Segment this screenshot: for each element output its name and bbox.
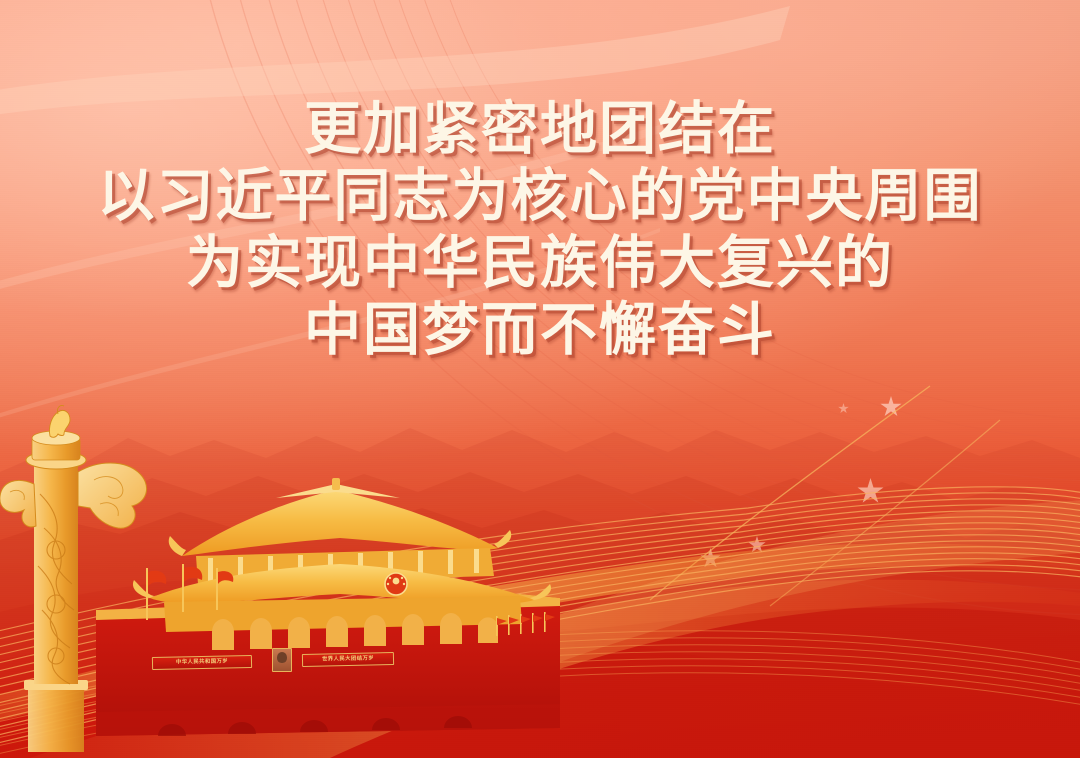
tiananmen-gate [96,478,560,736]
mao-portrait [272,648,292,672]
poster-canvas: 中华人民共和国万岁 世界人民大团结万岁 更加紧密地团结在 以习近平同志为核心的党… [0,0,1080,758]
illustration-tiananmen: 中华人民共和国万岁 世界人民大团结万岁 [0,398,560,758]
headline-line-4: 中国梦而不懈奋斗 [0,297,1080,364]
gate-banner-right: 世界人民大团结万岁 [302,652,394,667]
headline-line-2: 以习近平同志为核心的党中央周围 [0,163,1080,230]
gate-banner-left: 中华人民共和国万岁 [152,655,252,670]
national-emblem [385,573,407,595]
headline-block: 更加紧密地团结在 以习近平同志为核心的党中央周围 为实现中华民族伟大复兴的 中国… [0,96,1080,364]
headline-line-1: 更加紧密地团结在 [0,96,1080,163]
headline-line-3: 为实现中华民族伟大复兴的 [0,230,1080,297]
